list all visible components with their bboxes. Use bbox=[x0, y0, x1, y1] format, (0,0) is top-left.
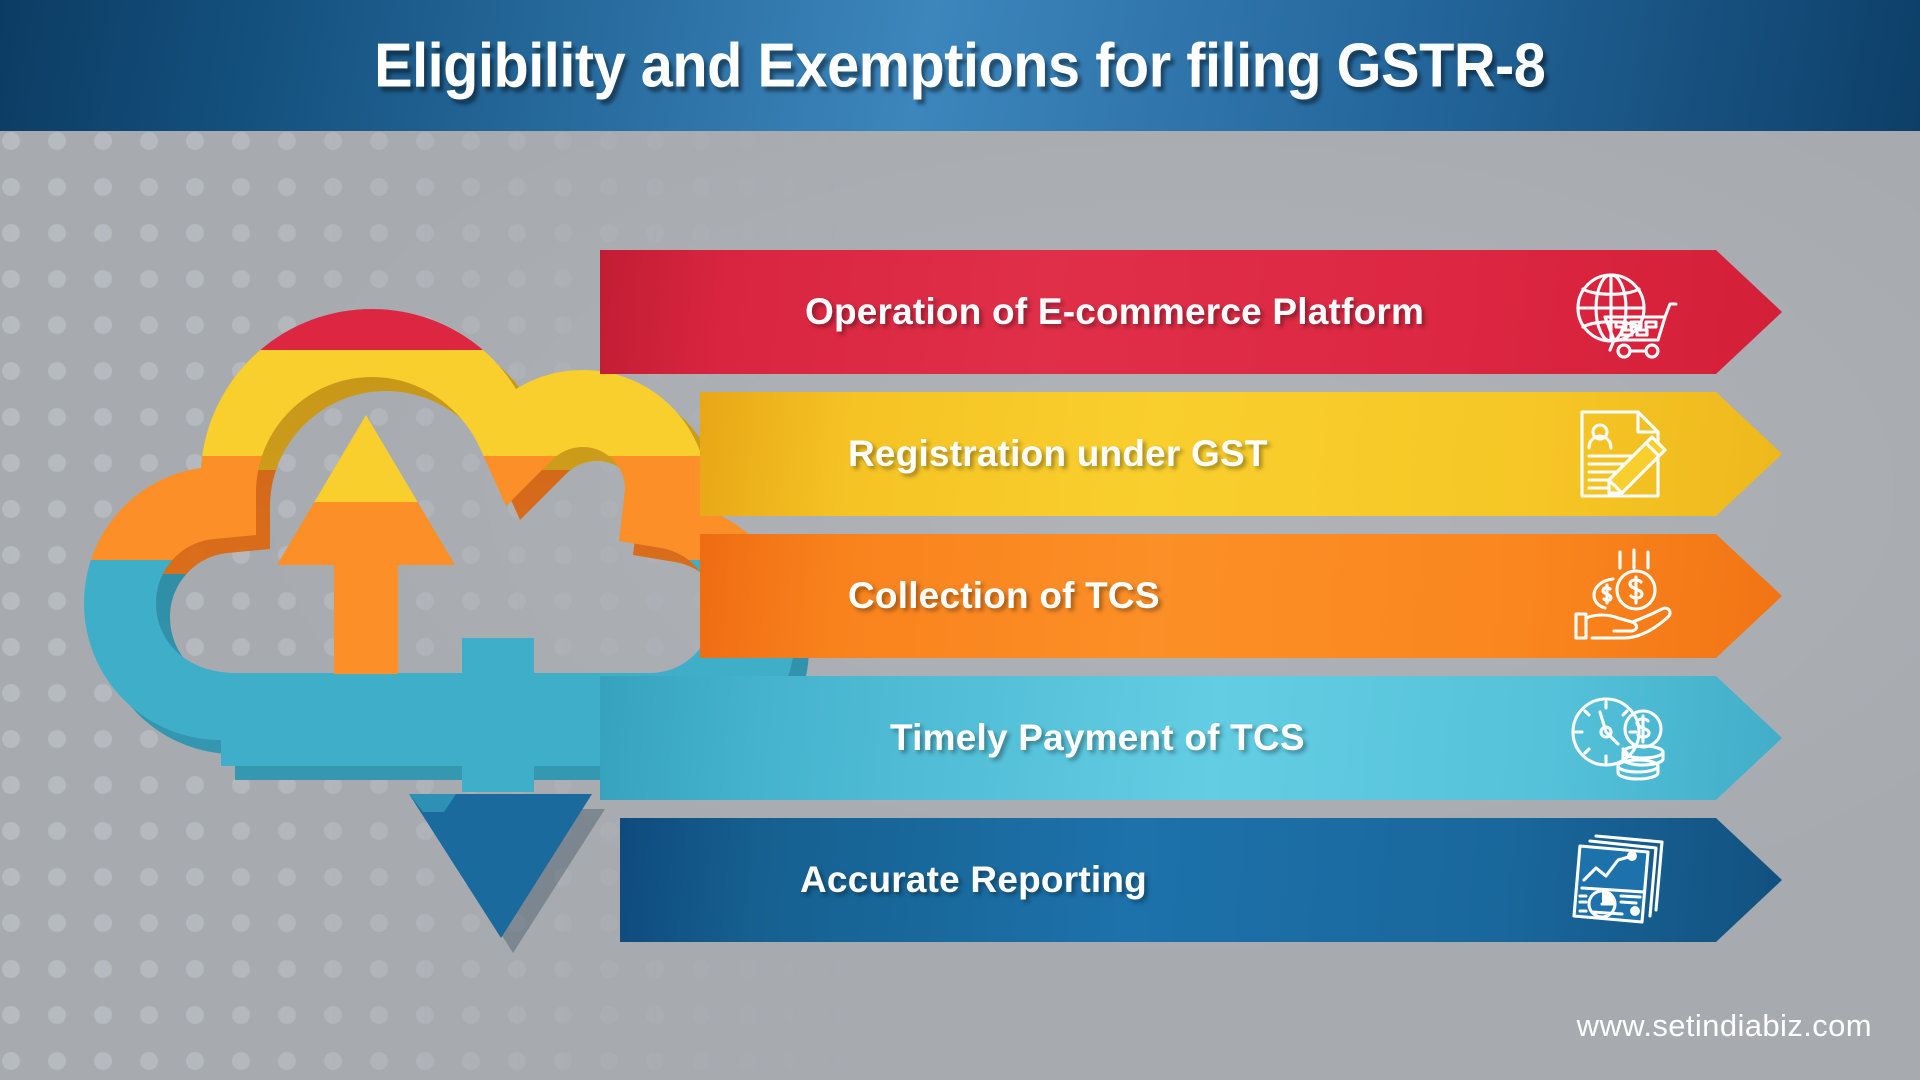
list-item[interactable]: Collection of TCS bbox=[700, 534, 1782, 658]
hand-coins-icon bbox=[1566, 548, 1678, 644]
globe-cart-icon bbox=[1566, 264, 1678, 360]
clock-coins-icon bbox=[1566, 690, 1678, 786]
banner-label: Collection of TCS bbox=[848, 575, 1160, 617]
banner-label: Timely Payment of TCS bbox=[890, 717, 1305, 759]
page-title-text: Eligibility and Exemptions for filing GS… bbox=[374, 30, 1545, 101]
list-item[interactable]: Timely Payment of TCS bbox=[600, 676, 1782, 800]
document-pencil-icon bbox=[1566, 406, 1678, 502]
list-item[interactable]: Registration under GST bbox=[700, 392, 1782, 516]
banner-label: Accurate Reporting bbox=[800, 859, 1147, 901]
page-title: Eligibility and Exemptions for filing GS… bbox=[0, 30, 1920, 101]
list-item[interactable]: Accurate Reporting bbox=[620, 818, 1782, 942]
banner-label: Operation of E-commerce Platform bbox=[805, 291, 1424, 333]
report-charts-icon bbox=[1566, 832, 1678, 928]
header-bar: Eligibility and Exemptions for filing GS… bbox=[0, 0, 1920, 131]
infographic-canvas: Eligibility and Exemptions for filing GS… bbox=[0, 0, 1920, 1080]
website-url[interactable]: www.setindiabiz.com bbox=[1577, 1008, 1872, 1044]
list-item[interactable]: Operation of E-commerce Platform bbox=[600, 250, 1782, 374]
banner-label: Registration under GST bbox=[848, 433, 1268, 475]
